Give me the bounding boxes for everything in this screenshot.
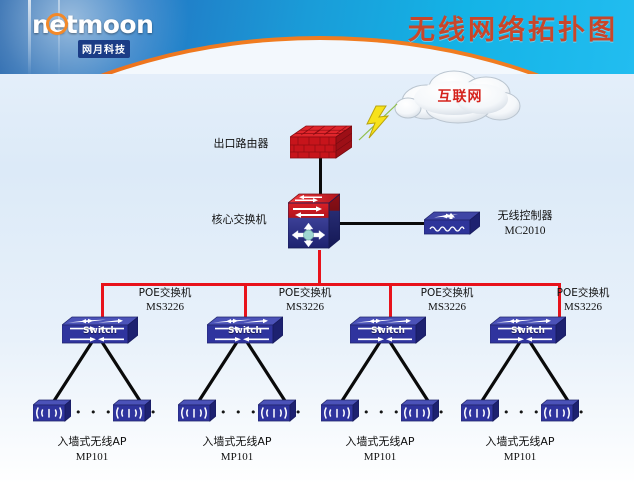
- internet-cloud-label: 互联网: [392, 86, 528, 106]
- ap-group-name-1: 入墙式无线AP: [57, 435, 126, 448]
- wireless-ap-icon: [461, 398, 499, 424]
- ap-group-model-4: MP101: [504, 451, 536, 463]
- core-switch: [288, 192, 340, 252]
- poe-switch-label-2: POE交换机 MS3226: [250, 286, 360, 314]
- ap-group-label-4: 入墙式无线AP MP101: [450, 434, 590, 465]
- poe-switch-label-3: POE交换机 MS3226: [392, 286, 502, 314]
- wireless-ap-icon: [113, 398, 151, 424]
- wireless-ap-1a: [33, 398, 71, 424]
- wireless-controller-label: 无线控制器 MC2010: [470, 208, 580, 239]
- poe-switch-label-1: POE交换机 MS3226: [110, 286, 220, 314]
- poe-switch-3: Switch: [350, 315, 426, 349]
- poe-model-3: MS3226: [428, 301, 466, 313]
- ap-group-model-2: MP101: [221, 451, 253, 463]
- switch-icon: [207, 315, 283, 349]
- switch-icon: [490, 315, 566, 349]
- wireless-ap-icon: [258, 398, 296, 424]
- diagram-canvas: netmoon 网月科技 无线网络拓扑图: [0, 0, 634, 484]
- wireless-ap-icon: [401, 398, 439, 424]
- poe-switch-label-4: POE交换机 MS3226: [528, 286, 634, 314]
- ap-group-name-4: 入墙式无线AP: [485, 435, 554, 448]
- poe-switch-4: Switch: [490, 315, 566, 349]
- wireless-ap-1b: [113, 398, 151, 424]
- wireless-ap-3b: [401, 398, 439, 424]
- wlc-model: MC2010: [505, 225, 546, 237]
- ap-group-label-2: 入墙式无线AP MP101: [167, 434, 307, 465]
- wireless-ap-4b: [541, 398, 579, 424]
- header-light-ray: [28, 0, 31, 74]
- page-title: 无线网络拓扑图: [408, 8, 618, 47]
- poe-model-4: MS3226: [564, 301, 602, 313]
- poe-model-1: MS3226: [146, 301, 184, 313]
- ap-group-label-1: 入墙式无线AP MP101: [22, 434, 162, 465]
- brand-logo-subtitle: 网月科技: [78, 40, 130, 58]
- page-header: netmoon 网月科技 无线网络拓扑图: [0, 0, 634, 74]
- brand-logo: netmoon 网月科技: [32, 11, 182, 59]
- switch-icon: [350, 315, 426, 349]
- wireless-ap-2a: [178, 398, 216, 424]
- core-switch-icon: [288, 192, 340, 252]
- link-router-to-core-switch: [319, 158, 322, 196]
- poe-switch-1: Switch: [62, 315, 138, 349]
- poe-switch-2: Switch: [207, 315, 283, 349]
- ap-group-model-1: MP101: [76, 451, 108, 463]
- egress-router-label: 出口路由器: [196, 137, 286, 151]
- ap-group-name-3: 入墙式无线AP: [345, 435, 414, 448]
- wireless-ap-3a: [321, 398, 359, 424]
- lightning-bolt-icon: [356, 100, 400, 144]
- wireless-ap-icon: [178, 398, 216, 424]
- ap-group-model-3: MP101: [364, 451, 396, 463]
- poe-name-3: POE交换机: [421, 287, 474, 299]
- poe-name-1: POE交换机: [139, 287, 192, 299]
- poe-name-4: POE交换机: [557, 287, 610, 299]
- brand-logo-ring-icon: [46, 13, 68, 35]
- firewall-router-icon: [290, 124, 352, 162]
- ap-group-label-3: 入墙式无线AP MP101: [310, 434, 450, 465]
- wireless-ap-icon: [33, 398, 71, 424]
- core-switch-label: 核心交换机: [196, 213, 282, 227]
- egress-router: [290, 124, 352, 162]
- poe-name-2: POE交换机: [279, 287, 332, 299]
- wireless-ap-icon: [321, 398, 359, 424]
- wireless-ap-2b: [258, 398, 296, 424]
- wireless-ap-icon: [541, 398, 579, 424]
- ap-group-name-2: 入墙式无线AP: [202, 435, 271, 448]
- poe-model-2: MS3226: [286, 301, 324, 313]
- wireless-ap-4a: [461, 398, 499, 424]
- wlc-name: 无线控制器: [498, 209, 553, 222]
- switch-icon: [62, 315, 138, 349]
- backbone-trunk-drop: [318, 250, 321, 284]
- link-core-switch-to-wlc: [338, 222, 426, 225]
- internet-cloud: 互联网: [392, 68, 528, 124]
